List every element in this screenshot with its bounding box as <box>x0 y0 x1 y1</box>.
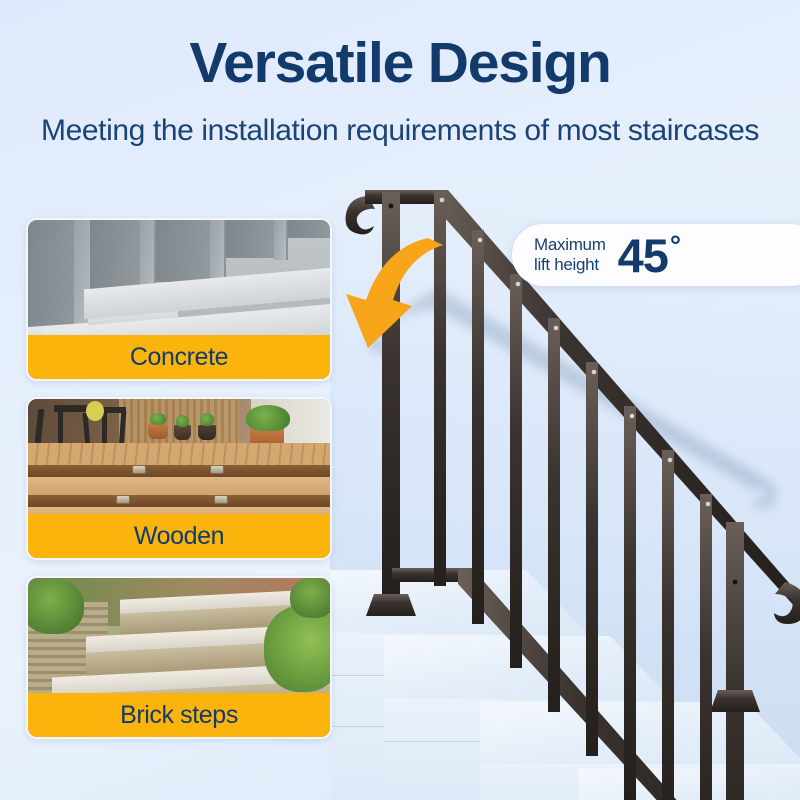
baluster <box>434 192 446 586</box>
rail-bottom-scroll <box>774 582 800 624</box>
card-label-band-wooden: Wooden <box>28 514 330 558</box>
baluster <box>510 274 522 668</box>
rail-rivet <box>630 414 635 419</box>
baluster <box>548 318 560 712</box>
rail-landing-segment <box>365 190 442 204</box>
badge-value-group: 45 ° <box>618 228 680 283</box>
page-title: Versatile Design <box>0 34 800 92</box>
rail-rivet <box>554 326 559 331</box>
post-left-base-plate <box>366 594 416 616</box>
rail-rivet <box>516 282 521 287</box>
post-left-rivet <box>389 204 394 209</box>
rail-rivet <box>668 458 673 463</box>
baluster <box>700 494 712 800</box>
rail-rivet <box>592 370 597 375</box>
surface-card-brick[interactable]: Brick steps <box>26 576 332 739</box>
surface-card-wooden[interactable]: Wooden <box>26 397 332 560</box>
surface-type-card-list: Concrete <box>26 218 332 755</box>
rail-rivet <box>440 198 445 203</box>
baluster <box>472 230 484 624</box>
card-label-band-concrete: Concrete <box>28 335 330 379</box>
surface-card-concrete[interactable]: Concrete <box>26 218 332 381</box>
handrail-wall-shadow <box>369 288 776 508</box>
card-label-brick: Brick steps <box>120 701 238 730</box>
card-label-band-brick: Brick steps <box>28 693 330 737</box>
card-label-concrete: Concrete <box>130 343 228 372</box>
badge-angle-number: 45 <box>618 228 668 283</box>
post-right-base-plate <box>710 690 760 712</box>
max-lift-height-badge: Maximum lift height 45 ° <box>512 224 800 286</box>
post-right-rivet <box>733 580 738 585</box>
baluster <box>624 406 636 800</box>
page-subtitle: Meeting the installation requirements of… <box>0 112 800 150</box>
degree-symbol-icon: ° <box>670 230 680 262</box>
rail-rivet <box>706 502 711 507</box>
post-right <box>726 522 744 800</box>
rail-rivet <box>478 238 483 243</box>
baluster <box>662 450 674 800</box>
post-left <box>382 192 400 602</box>
promo-canvas: Versatile Design Meeting the installatio… <box>0 0 800 800</box>
baluster <box>586 362 598 756</box>
rail-bottom-landing <box>392 568 466 582</box>
card-label-wooden: Wooden <box>134 522 224 551</box>
badge-label: Maximum lift height <box>534 235 606 274</box>
